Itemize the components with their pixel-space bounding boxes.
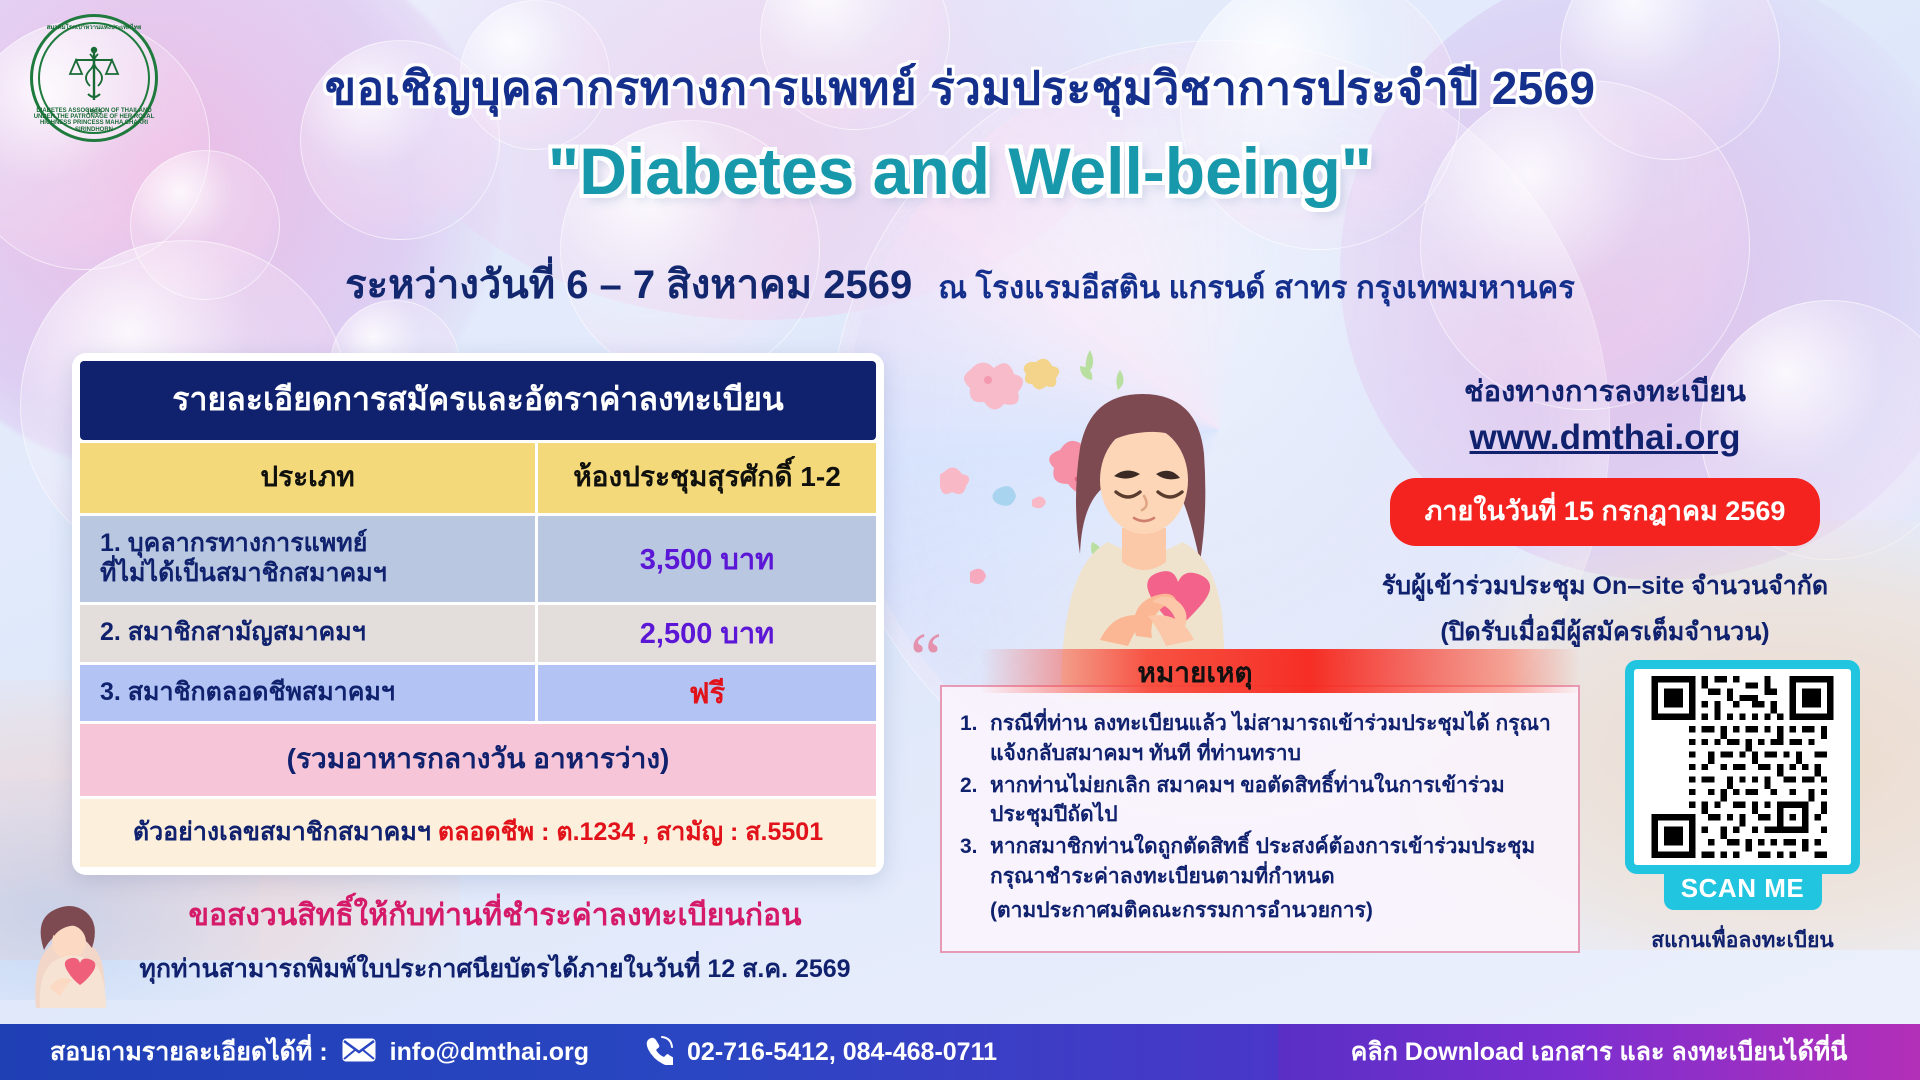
remarks-list: 1. กรณีที่ท่าน ลงทะเบียนแล้ว ไม่สามารถเข… — [960, 709, 1554, 892]
page-title-line1: ขอเชิญบุคลากรทางการแพทย์ ร่วมประชุมวิชาก… — [0, 52, 1920, 125]
remark-2-number: 2. — [960, 771, 982, 831]
member-example-label: ตัวอย่างเลขสมาชิกสมาคมฯ — [133, 818, 438, 846]
fee-value-2: 2,500 บาท — [538, 605, 876, 662]
face — [1100, 426, 1188, 534]
meal-inclusion-note: (รวมอาหารกลางวัน อาหารว่าง) — [80, 724, 876, 796]
fee-type-3: 3. สมาชิกตลอดชีพสมาคมฯ — [80, 665, 535, 722]
table-header-row: ประเภท ห้องประชุมสุรศักดิ์ 1-2 — [80, 443, 876, 513]
registration-url-link[interactable]: www.dmthai.org — [1470, 418, 1741, 458]
footer-contact-section: สอบถามรายละเอียดได้ที่ : info@dmthai.org… — [0, 1024, 1278, 1080]
remarks-panel: “ ” หมายเหตุ 1. กรณีที่ท่าน ลงทะเบียนแล้… — [940, 685, 1580, 953]
onsite-limited-note: รับผู้เข้าร่วมประชุม On–site จำนวนจำกัด — [1320, 566, 1890, 606]
neck — [1122, 528, 1166, 570]
footer-email[interactable]: info@dmthai.org — [390, 1038, 589, 1067]
remark-2-text: หากท่านไม่ยกเลิก สมาคมฯ ขอตัดสิทธิ์ท่านใ… — [990, 771, 1554, 831]
qr-code-frame[interactable] — [1625, 660, 1860, 874]
scan-me-label: SCAN ME — [1664, 870, 1822, 910]
poster-header: ขอเชิญบุคลากรทางการแพทย์ ร่วมประชุมวิชาก… — [0, 0, 1920, 209]
footer-phone: 02-716-5412, 084-468-0711 — [687, 1038, 997, 1067]
remark-3-number: 3. — [960, 832, 982, 892]
remarks-title: หมายเหตุ — [980, 651, 1410, 695]
fee-type-1: 1. บุคลากรทางการแพทย์ ที่ไม่ได้เป็นสมาชิ… — [80, 516, 535, 602]
reservation-priority-note: ขอสงวนสิทธิ์ให้กับท่านที่ชำระค่าลงทะเบีย… — [100, 892, 890, 989]
qr-code-image[interactable] — [1641, 676, 1844, 858]
table-row: 3. สมาชิกตลอดชีพสมาคมฯ ฟรี — [80, 665, 876, 722]
table-row: 2. สมาชิกสามัญสมาคมฯ 2,500 บาท — [80, 605, 876, 662]
registration-info-panel: ช่องทางการลงทะเบียน www.dmthai.org ภายใน… — [1320, 368, 1890, 652]
reserve-note-line1: ขอสงวนสิทธิ์ให้กับท่านที่ชำระค่าลงทะเบีย… — [100, 892, 890, 939]
remarks-footnote: (ตามประกาศมติคณะกรรมการอำนวยการ) — [960, 894, 1554, 927]
fee-type-1-line2: ที่ไม่ได้เป็นสมาชิกสมาคมฯ — [100, 559, 529, 589]
table-banner-title: รายละเอียดการสมัครและอัตราค่าลงทะเบียน — [80, 361, 876, 440]
table-row: 1. บุคลากรทางการแพทย์ ที่ไม่ได้เป็นสมาชิ… — [80, 516, 876, 602]
member-number-example: ตัวอย่างเลขสมาชิกสมาคมฯ ตลอดชีพ : ต.1234… — [80, 799, 876, 867]
woman-meditating-illustration — [940, 340, 1360, 700]
closing-note: (ปิดรับเมื่อมีผู้สมัครเต็มจำนวน) — [1320, 612, 1890, 652]
registration-deadline-badge: ภายในวันที่ 15 กรกฎาคม 2569 — [1390, 478, 1820, 546]
remark-1-text: กรณีที่ท่าน ลงทะเบียนแล้ว ไม่สามารถเข้าร… — [990, 709, 1554, 769]
page-title-theme: "Diabetes and Well-being" — [0, 133, 1920, 209]
event-date-venue: ระหว่างวันที่ 6 – 7 สิงหาคม 2569 ณ โรงแร… — [0, 252, 1920, 316]
event-date: ระหว่างวันที่ 6 – 7 สิงหาคม 2569 — [345, 252, 912, 316]
envelope-icon — [342, 1038, 376, 1067]
remarks-box: 1. กรณีที่ท่าน ลงทะเบียนแล้ว ไม่สามารถเข… — [940, 685, 1580, 953]
fee-value-3: ฟรี — [538, 665, 876, 722]
fee-value-1: 3,500 บาท — [538, 516, 876, 602]
qr-caption: สแกนเพื่อลงทะเบียน — [1625, 924, 1860, 957]
footer-download-button[interactable]: คลิก Download เอกสาร และ ลงทะเบียนได้ที่… — [1278, 1024, 1920, 1080]
remark-3-text: หากสมาชิกท่านใดถูกตัดสิทธิ์ ประสงค์ต้องก… — [990, 832, 1554, 892]
list-item: 3. หากสมาชิกท่านใดถูกตัดสิทธิ์ ประสงค์ต้… — [960, 832, 1554, 892]
registration-fee-table: รายละเอียดการสมัครและอัตราค่าลงทะเบียน ป… — [72, 353, 884, 875]
column-header-room: ห้องประชุมสุรศักดิ์ 1-2 — [538, 443, 876, 513]
fee-type-1-line1: 1. บุคลากรทางการแพทย์ — [100, 529, 529, 559]
reserve-note-line2: ทุกท่านสามารถพิมพ์ใบประกาศนียบัตรได้ภายใ… — [100, 949, 890, 989]
list-item: 2. หากท่านไม่ยกเลิก สมาคมฯ ขอตัดสิทธิ์ท่… — [960, 771, 1554, 831]
remark-1-number: 1. — [960, 709, 982, 769]
list-item: 1. กรณีที่ท่าน ลงทะเบียนแล้ว ไม่สามารถเข… — [960, 709, 1554, 769]
footer-contact-label: สอบถามรายละเอียดได้ที่ : — [50, 1032, 328, 1072]
member-example-value: ตลอดชีพ : ต.1234 , สามัญ : ส.5501 — [438, 818, 823, 846]
quote-open-mark: “ — [910, 637, 942, 680]
event-venue: ณ โรงแรมอีสติน แกรนด์ สาทร กรุงเทพมหานคร — [938, 262, 1575, 312]
qr-code-block[interactable]: SCAN ME สแกนเพื่อลงทะเบียน — [1625, 660, 1860, 957]
registration-channel-label: ช่องทางการลงทะเบียน — [1320, 368, 1890, 414]
fee-type-2: 2. สมาชิกสามัญสมาคมฯ — [80, 605, 535, 662]
phone-icon — [643, 1035, 673, 1070]
footer-bar: สอบถามรายละเอียดได้ที่ : info@dmthai.org… — [0, 1024, 1920, 1080]
column-header-type: ประเภท — [80, 443, 535, 513]
